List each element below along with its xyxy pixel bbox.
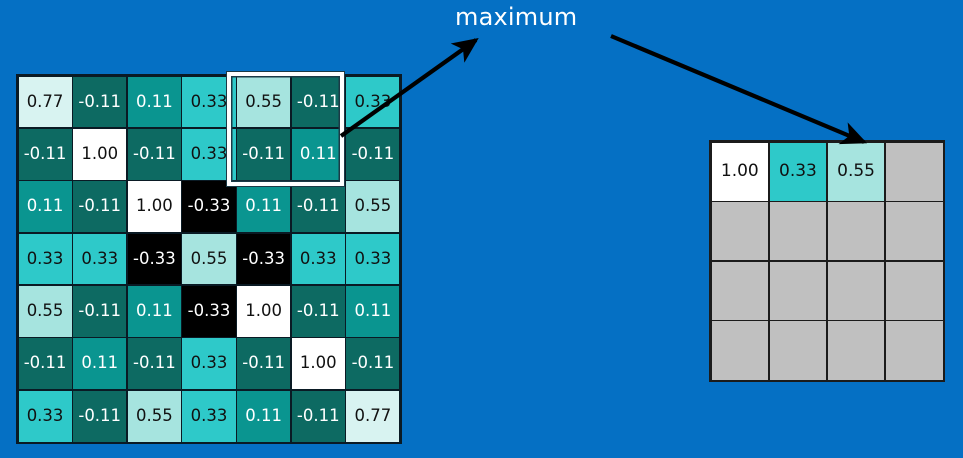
source-cell-r0c1: -0.11 <box>73 77 126 128</box>
output-cell-r2c2 <box>828 262 885 320</box>
diagram-canvas: maximum 0.77-0.110.110.330.55-0.110.33-0… <box>0 0 963 458</box>
source-cell-r4c4: 1.00 <box>237 286 290 337</box>
source-cell-r3c6: 0.33 <box>346 234 399 285</box>
source-cell-r4c6: 0.11 <box>346 286 399 337</box>
output-cell-r1c2 <box>828 202 885 260</box>
source-cell-r3c0: 0.33 <box>19 234 72 285</box>
source-cell-r1c4: -0.11 <box>237 129 290 180</box>
source-cell-r4c2: 0.11 <box>128 286 181 337</box>
output-cell-r0c0: 1.00 <box>712 143 769 201</box>
source-cell-r1c1: 1.00 <box>73 129 126 180</box>
source-cell-r6c5: -0.11 <box>292 391 345 442</box>
source-cell-r3c1: 0.33 <box>73 234 126 285</box>
source-cell-r6c3: 0.33 <box>182 391 235 442</box>
source-cell-r4c1: -0.11 <box>73 286 126 337</box>
source-cell-r0c2: 0.11 <box>128 77 181 128</box>
source-cell-r5c0: -0.11 <box>19 338 72 389</box>
source-cell-r1c5: 0.11 <box>292 129 345 180</box>
output-cell-r3c1 <box>770 321 827 379</box>
output-cell-r2c3 <box>886 262 943 320</box>
source-cell-r6c2: 0.55 <box>128 391 181 442</box>
source-cell-r3c4: -0.33 <box>237 234 290 285</box>
source-cell-r2c0: 0.11 <box>19 181 72 232</box>
pooled-output-map: 1.000.330.55 <box>709 140 945 382</box>
maximum-label: maximum <box>455 3 577 31</box>
source-cell-r2c1: -0.11 <box>73 181 126 232</box>
output-cell-r0c2: 0.55 <box>828 143 885 201</box>
output-cell-r1c0 <box>712 202 769 260</box>
source-cell-r6c1: -0.11 <box>73 391 126 442</box>
source-cell-r0c3: 0.33 <box>182 77 235 128</box>
source-cell-r5c1: 0.11 <box>73 338 126 389</box>
source-cell-r4c0: 0.55 <box>19 286 72 337</box>
output-cell-r3c2 <box>828 321 885 379</box>
output-cell-r2c0 <box>712 262 769 320</box>
source-cell-r5c5: 1.00 <box>292 338 345 389</box>
source-cell-r0c0: 0.77 <box>19 77 72 128</box>
source-feature-map: 0.77-0.110.110.330.55-0.110.33-0.111.00-… <box>16 74 402 444</box>
source-cell-r2c6: 0.55 <box>346 181 399 232</box>
source-cell-r2c4: 0.11 <box>237 181 290 232</box>
source-cell-r5c3: 0.33 <box>182 338 235 389</box>
source-cell-r5c6: -0.11 <box>346 338 399 389</box>
source-cell-r2c5: -0.11 <box>292 181 345 232</box>
source-cell-r0c5: -0.11 <box>292 77 345 128</box>
source-cell-r4c5: -0.11 <box>292 286 345 337</box>
source-cell-r6c4: 0.11 <box>237 391 290 442</box>
source-cell-r1c0: -0.11 <box>19 129 72 180</box>
source-cell-r1c3: 0.33 <box>182 129 235 180</box>
source-cell-r0c6: 0.33 <box>346 77 399 128</box>
output-cell-r3c0 <box>712 321 769 379</box>
source-cell-r4c3: -0.33 <box>182 286 235 337</box>
arrow-label-to-result <box>611 36 864 142</box>
source-cell-r3c5: 0.33 <box>292 234 345 285</box>
source-cell-r3c2: -0.33 <box>128 234 181 285</box>
source-cell-r5c4: -0.11 <box>237 338 290 389</box>
output-cell-r3c3 <box>886 321 943 379</box>
output-cell-r0c3 <box>886 143 943 201</box>
source-cell-r1c2: -0.11 <box>128 129 181 180</box>
output-cell-r1c1 <box>770 202 827 260</box>
source-cell-r3c3: 0.55 <box>182 234 235 285</box>
source-cell-r6c6: 0.77 <box>346 391 399 442</box>
source-cell-r2c3: -0.33 <box>182 181 235 232</box>
source-cell-r1c6: -0.11 <box>346 129 399 180</box>
source-cell-r5c2: -0.11 <box>128 338 181 389</box>
source-cell-r0c4: 0.55 <box>237 77 290 128</box>
output-cell-r2c1 <box>770 262 827 320</box>
output-cell-r0c1: 0.33 <box>770 143 827 201</box>
output-cell-r1c3 <box>886 202 943 260</box>
source-cell-r2c2: 1.00 <box>128 181 181 232</box>
source-cell-r6c0: 0.33 <box>19 391 72 442</box>
